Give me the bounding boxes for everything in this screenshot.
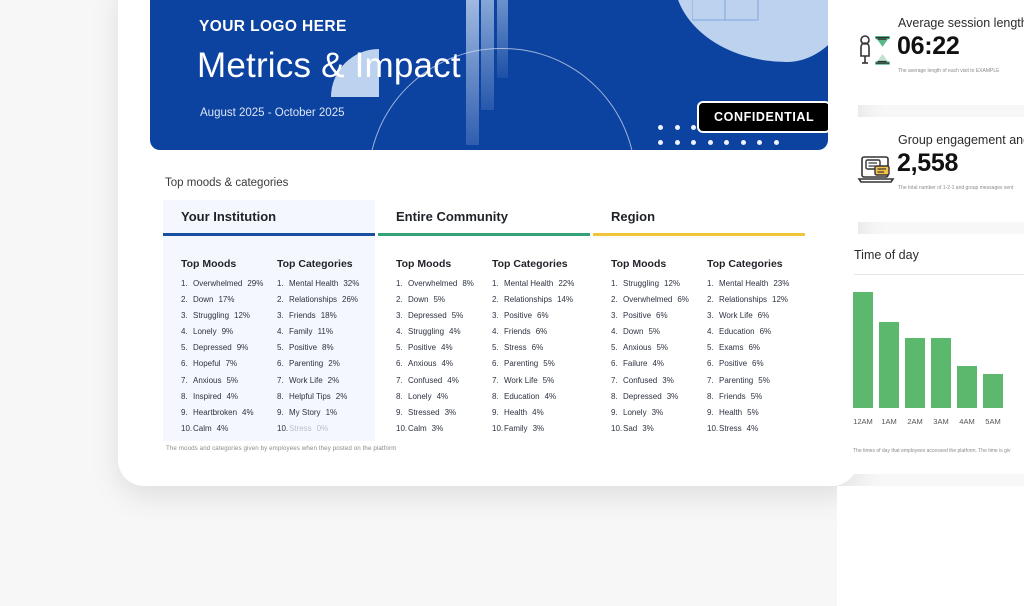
list-item: 4.Struggling4% [396,328,492,336]
bar-chart-plot: 12AM1AM2AM3AM4AM5AM [853,292,1024,426]
list-item-rank: 8. [707,393,719,401]
list-item-value: 4% [441,359,453,368]
list-item: 1.Overwhelmed8% [396,280,492,288]
list-item-label: Stress [289,424,312,433]
list-item-rank: 2. [181,296,193,304]
list-item-value: 3% [642,424,654,433]
list-item-label: Failure [623,359,647,368]
list-item: 7.Confused3% [611,377,707,385]
list-item-label: Positive [289,343,317,352]
list-item: 1.Struggling12% [611,280,707,288]
list-item-rank: 6. [492,360,504,368]
list-item: 3.Struggling12% [181,312,277,320]
list-item: 4.Education6% [707,328,803,336]
list-item-value: 6% [760,327,772,336]
chart-x-label: 1AM [879,417,899,426]
list-item: 2.Down17% [181,296,277,304]
list-item: 6.Positive6% [707,360,803,368]
bar-decoration-icon [481,0,494,110]
list-item-label: Anxious [193,376,221,385]
list-item-value: 32% [343,279,359,288]
list-item-rank: 10. [396,425,408,433]
list-item-label: Relationships [504,295,552,304]
comparison-column[interactable]: Your InstitutionTop Moods1.Overwhelmed29… [163,200,375,441]
list-item-label: Confused [408,376,442,385]
list-item-value: 3% [432,424,444,433]
list-item-label: Depressed [193,343,232,352]
column-body: Top Moods1.Struggling12%2.Overwhelmed6%3… [593,236,805,442]
list-item-rank: 8. [611,393,623,401]
list-item-rank: 10. [611,425,623,433]
list-item: 5.Positive4% [396,344,492,352]
date-range-label: August 2025 - October 2025 [200,107,345,119]
list-item: 5.Positive8% [277,344,373,352]
list-item-value: 8% [462,279,474,288]
list-item-label: Stress [719,424,742,433]
list-item-label: Health [504,408,527,417]
list-item: 6.Anxious4% [396,360,492,368]
list-item-value: 22% [558,279,574,288]
list-item-value: 4% [437,392,449,401]
list-item: 9.My Story1% [277,409,373,417]
confidential-badge: CONFIDENTIAL [697,101,828,133]
list-item-rank: 1. [611,280,623,288]
top-moods-title: Top Moods [181,258,277,270]
top-categories-list: Top Categories1.Mental Health23%2.Relati… [707,258,803,442]
list-item-rank: 7. [492,377,504,385]
chart-bar [931,338,951,408]
list-item-value: 3% [667,392,679,401]
list-item-rank: 4. [611,328,623,336]
list-item: 6.Failure4% [611,360,707,368]
list-item-label: Struggling [408,327,444,336]
list-item-label: Work Life [289,376,323,385]
list-item-value: 7% [226,359,238,368]
page-title: Metrics & Impact [197,46,461,86]
list-item: 3.Positive6% [492,312,588,320]
list-item-rank: 10. [707,425,719,433]
list-item-rank: 7. [707,377,719,385]
list-item: 2.Relationships12% [707,296,803,304]
list-item-label: My Story [289,408,321,417]
chart-x-label: 2AM [905,417,925,426]
kpi-card-group-engagement: Group engagement and p 2,558 The total n… [837,117,1024,222]
list-item-label: Mental Health [719,279,768,288]
list-item-value: 4% [217,424,229,433]
report-page: YOUR LOGO HERE Metrics & Impact August 2… [0,0,1024,573]
column-title: Region [611,209,655,224]
kpi-note: The total number of 1-2-1 and group mess… [898,185,1013,191]
list-item: 5.Depressed9% [181,344,277,352]
list-item-label: Lonely [193,327,217,336]
list-item-rank: 6. [277,360,289,368]
chart-bar [879,322,899,408]
comparison-column[interactable]: Entire CommunityTop Moods1.Overwhelmed8%… [378,200,590,441]
list-item: 3.Positive6% [611,312,707,320]
list-item-rank: 2. [707,296,719,304]
list-item-label: Work Life [504,376,538,385]
list-item-value: 4% [532,408,544,417]
list-item-value: 6% [537,311,549,320]
list-item: 7.Parenting5% [707,377,803,385]
list-item: 5.Stress6% [492,344,588,352]
list-item-rank: 7. [181,377,193,385]
list-item-label: Lonely [408,392,432,401]
column-tab-region[interactable]: Region [593,200,805,233]
chart-x-axis-labels: 12AM1AM2AM3AM4AM5AM [853,417,1024,426]
list-item-value: 9% [237,343,249,352]
list-item: 9.Stressed3% [396,409,492,417]
report-hero-banner: YOUR LOGO HERE Metrics & Impact August 2… [150,0,828,150]
list-item: 10.Family3% [492,425,588,433]
top-categories-title: Top Categories [277,258,373,270]
list-item-rank: 3. [277,312,289,320]
list-item-label: Family [289,327,313,336]
list-item: 10.Stress4% [707,425,803,433]
top-moods-title: Top Moods [396,258,492,270]
list-item-label: Overwhelmed [623,295,672,304]
list-item-rank: 9. [492,409,504,417]
list-item-rank: 2. [277,296,289,304]
person-hourglass-icon [856,30,898,72]
list-item: 6.Hopeful7% [181,360,277,368]
list-item: 4.Lonely9% [181,328,277,336]
list-item: 6.Parenting5% [492,360,588,368]
bar-decoration-icon [466,0,479,145]
list-item: 10.Stress0% [277,425,373,433]
list-item-label: Struggling [623,279,659,288]
list-item-value: 6% [752,359,764,368]
chart-bars [853,292,1024,408]
list-item-rank: 8. [181,393,193,401]
list-item-value: 4% [447,376,459,385]
list-item-rank: 6. [181,360,193,368]
list-item-rank: 9. [707,409,719,417]
top-moods-title: Top Moods [611,258,707,270]
list-item-value: 5% [226,376,238,385]
list-item-label: Relationships [719,295,767,304]
list-item-label: Positive [504,311,532,320]
kpi-note: The average length of each visit to EXAM… [898,68,999,74]
list-item-rank: 5. [181,344,193,352]
list-item-rank: 4. [396,328,408,336]
list-item-rank: 3. [396,312,408,320]
list-item-rank: 10. [492,425,504,433]
list-item-value: 6% [656,311,668,320]
list-item-label: Exams [719,343,743,352]
list-item-rank: 7. [396,377,408,385]
list-item-rank: 8. [277,393,289,401]
list-item-rank: 1. [707,280,719,288]
chart-x-label: 4AM [957,417,977,426]
list-item-label: Inspired [193,392,221,401]
list-item-rank: 2. [611,296,623,304]
list-item-rank: 7. [277,377,289,385]
column-tab-entire-community[interactable]: Entire Community [378,200,590,233]
list-item-rank: 5. [396,344,408,352]
column-title: Your Institution [181,209,276,224]
list-item-label: Struggling [193,311,229,320]
top-categories-list: Top Categories1.Mental Health32%2.Relati… [277,258,373,442]
chart-x-label: 12AM [853,417,873,426]
list-item: 10.Sad3% [611,425,707,433]
top-moods-list: Top Moods1.Struggling12%2.Overwhelmed6%3… [611,258,707,442]
list-item-rank: 8. [492,393,504,401]
list-item-rank: 3. [181,312,193,320]
list-item-label: Mental Health [504,279,553,288]
list-item-rank: 2. [492,296,504,304]
list-item-rank: 3. [492,312,504,320]
list-item-label: Down [408,295,428,304]
list-item-value: 17% [218,295,234,304]
list-item-value: 2% [328,359,340,368]
section-heading: Top moods & categories [165,177,288,189]
kpi-card-session-length: Average session length 06:22 The average… [837,0,1024,105]
list-item: 2.Relationships14% [492,296,588,304]
column-tab-your-institution[interactable]: Your Institution [163,200,375,233]
right-metrics-panel: Average session length 06:22 The average… [837,0,1024,573]
list-item-value: 8% [322,343,334,352]
list-item-rank: 5. [611,344,623,352]
list-item-label: Family [504,424,528,433]
list-item: 10.Calm4% [181,425,277,433]
list-item-value: 4% [747,424,759,433]
list-item-rank: 9. [277,409,289,417]
list-item-rank: 9. [396,409,408,417]
list-item-label: Positive [408,343,436,352]
list-item-value: 5% [543,359,555,368]
list-item-label: Stress [504,343,527,352]
list-item-value: 12% [664,279,680,288]
list-item-rank: 3. [611,312,623,320]
list-item: 8.Education4% [492,393,588,401]
list-item: 2.Down5% [396,296,492,304]
column-body: Top Moods1.Overwhelmed8%2.Down5%3.Depres… [378,236,590,442]
list-item-label: Lonely [623,408,647,417]
list-item-value: 2% [336,392,348,401]
list-item-value: 3% [662,376,674,385]
top-categories-title: Top Categories [707,258,803,270]
list-item-label: Stressed [408,408,440,417]
top-categories-list: Top Categories1.Mental Health22%2.Relati… [492,258,588,442]
column-body: Top Moods1.Overwhelmed29%2.Down17%3.Stru… [163,236,375,442]
list-item-rank: 10. [277,425,289,433]
kpi-title: Average session length [898,16,1024,30]
list-item-value: 2% [328,376,340,385]
list-item-value: 5% [751,392,763,401]
list-item-value: 5% [543,376,555,385]
list-item: 3.Work Life6% [707,312,803,320]
list-item: 2.Relationships26% [277,296,373,304]
list-item: 8.Lonely4% [396,393,492,401]
list-item-rank: 1. [277,280,289,288]
list-item-label: Confused [623,376,657,385]
kpi-title: Group engagement and p [898,133,1024,147]
top-moods-list: Top Moods1.Overwhelmed29%2.Down17%3.Stru… [181,258,277,442]
list-item-value: 3% [652,408,664,417]
top-moods-list: Top Moods1.Overwhelmed8%2.Down5%3.Depres… [396,258,492,442]
chart-title: Time of day [854,248,919,262]
list-item-rank: 1. [396,280,408,288]
list-item-value: 3% [533,424,545,433]
list-item-label: Education [504,392,540,401]
list-item-label: Overwhelmed [193,279,242,288]
list-item: 5.Exams6% [707,344,803,352]
list-item: 8.Helpful Tips2% [277,393,373,401]
list-item-value: 12% [772,295,788,304]
list-item-label: Mental Health [289,279,338,288]
list-item-label: Positive [623,311,651,320]
list-item: 5.Anxious5% [611,344,707,352]
list-item-value: 14% [557,295,573,304]
list-item-rank: 2. [396,296,408,304]
list-item-value: 5% [648,327,660,336]
list-item-value: 1% [326,408,338,417]
list-item-label: Positive [719,359,747,368]
list-item: 9.Heartbroken4% [181,409,277,417]
list-item-value: 6% [677,295,689,304]
list-item-value: 6% [748,343,760,352]
list-item-rank: 8. [396,393,408,401]
time-of-day-chart-card: Time of day 12AM1AM2AM3AM4AM5AM The time… [837,234,1024,474]
list-item-rank: 10. [181,425,193,433]
list-item-label: Parenting [719,376,753,385]
list-item-label: Friends [289,311,316,320]
list-item: 10.Calm3% [396,425,492,433]
list-item-rank: 5. [277,344,289,352]
chart-bar [983,374,1003,408]
list-item-rank: 9. [611,409,623,417]
list-item-value: 6% [536,327,548,336]
list-item: 7.Confused4% [396,377,492,385]
list-item-label: Parenting [504,359,538,368]
list-item-rank: 4. [492,328,504,336]
list-item-rank: 4. [707,328,719,336]
kpi-value: 2,558 [897,149,958,178]
list-item-value: 5% [758,376,770,385]
chart-bar [853,292,873,408]
list-item-label: Work Life [719,311,753,320]
list-item: 4.Family11% [277,328,373,336]
list-item: 4.Down5% [611,328,707,336]
list-item-value: 4% [652,359,664,368]
list-item-rank: 1. [492,280,504,288]
list-item-label: Depressed [623,392,662,401]
chart-bar [905,338,925,408]
list-item-rank: 5. [492,344,504,352]
list-item: 2.Overwhelmed6% [611,296,707,304]
list-item-label: Sad [623,424,637,433]
chart-x-label: 5AM [983,417,1003,426]
next-card-placeholder [837,486,1024,606]
list-item-rank: 9. [181,409,193,417]
list-item-value: 5% [433,295,445,304]
bar-decoration-icon [497,0,508,78]
list-item: 1.Mental Health22% [492,280,588,288]
list-item-label: Overwhelmed [408,279,457,288]
list-item-value: 4% [242,408,254,417]
list-item-label: Education [719,327,755,336]
list-item-value: 4% [449,327,461,336]
list-item-value: 4% [545,392,557,401]
list-item-value: 29% [247,279,263,288]
list-item-rank: 5. [707,344,719,352]
list-item-rank: 7. [611,377,623,385]
list-item: 7.Anxious5% [181,377,277,385]
list-item-value: 6% [758,311,770,320]
list-item-label: Calm [408,424,427,433]
grid-decoration-icon [692,0,824,22]
list-item-value: 9% [222,327,234,336]
list-item-rank: 6. [707,360,719,368]
comparison-columns: Your InstitutionTop Moods1.Overwhelmed29… [163,200,811,441]
list-item-value: 5% [656,343,668,352]
list-item-rank: 3. [707,312,719,320]
list-item-value: 3% [445,408,457,417]
list-item: 4.Friends6% [492,328,588,336]
moods-categories-card: Top moods & categories Your InstitutionT… [146,160,828,466]
column-title: Entire Community [396,209,508,224]
list-item-rank: 6. [611,360,623,368]
list-item-rank: 1. [181,280,193,288]
list-item-label: Friends [504,327,531,336]
list-item: 7.Work Life2% [277,377,373,385]
list-item-label: Calm [193,424,212,433]
moods-footnote: The moods and categories given by employ… [166,445,396,452]
laptop-messages-icon [856,147,898,189]
list-item: 9.Health5% [707,409,803,417]
list-item: 3.Depressed5% [396,312,492,320]
list-item-label: Health [719,408,742,417]
list-item-label: Helpful Tips [289,392,331,401]
list-item-value: 26% [342,295,358,304]
list-item-rank: 6. [396,360,408,368]
chart-x-label: 3AM [931,417,951,426]
list-item: 9.Lonely3% [611,409,707,417]
list-item-value: 11% [318,327,333,336]
kpi-value: 06:22 [897,32,959,61]
list-item-value: 23% [773,279,789,288]
list-item: 1.Mental Health32% [277,280,373,288]
list-item-label: Anxious [408,359,436,368]
logo-placeholder: YOUR LOGO HERE [199,18,347,36]
list-item-value: 0% [317,424,329,433]
list-item: 7.Work Life5% [492,377,588,385]
list-item-value: 18% [321,311,337,320]
list-item-value: 5% [747,408,759,417]
list-item: 1.Mental Health23% [707,280,803,288]
list-item-value: 5% [452,311,464,320]
list-item-rank: 4. [277,328,289,336]
list-item-value: 12% [234,311,250,320]
list-item: 8.Inspired4% [181,393,277,401]
list-item: 6.Parenting2% [277,360,373,368]
list-item-label: Parenting [289,359,323,368]
list-item-value: 6% [532,343,544,352]
list-item: 9.Health4% [492,409,588,417]
list-item-label: Relationships [289,295,337,304]
list-item-value: 4% [226,392,238,401]
list-item-label: Down [193,295,213,304]
chart-note: The times of day that employees accessed… [853,448,1010,454]
list-item-label: Down [623,327,643,336]
list-item-label: Anxious [623,343,651,352]
list-item-label: Friends [719,392,746,401]
list-item-rank: 4. [181,328,193,336]
list-item-label: Depressed [408,311,447,320]
chart-bar [957,366,977,408]
comparison-column[interactable]: RegionTop Moods1.Struggling12%2.Overwhel… [593,200,805,441]
